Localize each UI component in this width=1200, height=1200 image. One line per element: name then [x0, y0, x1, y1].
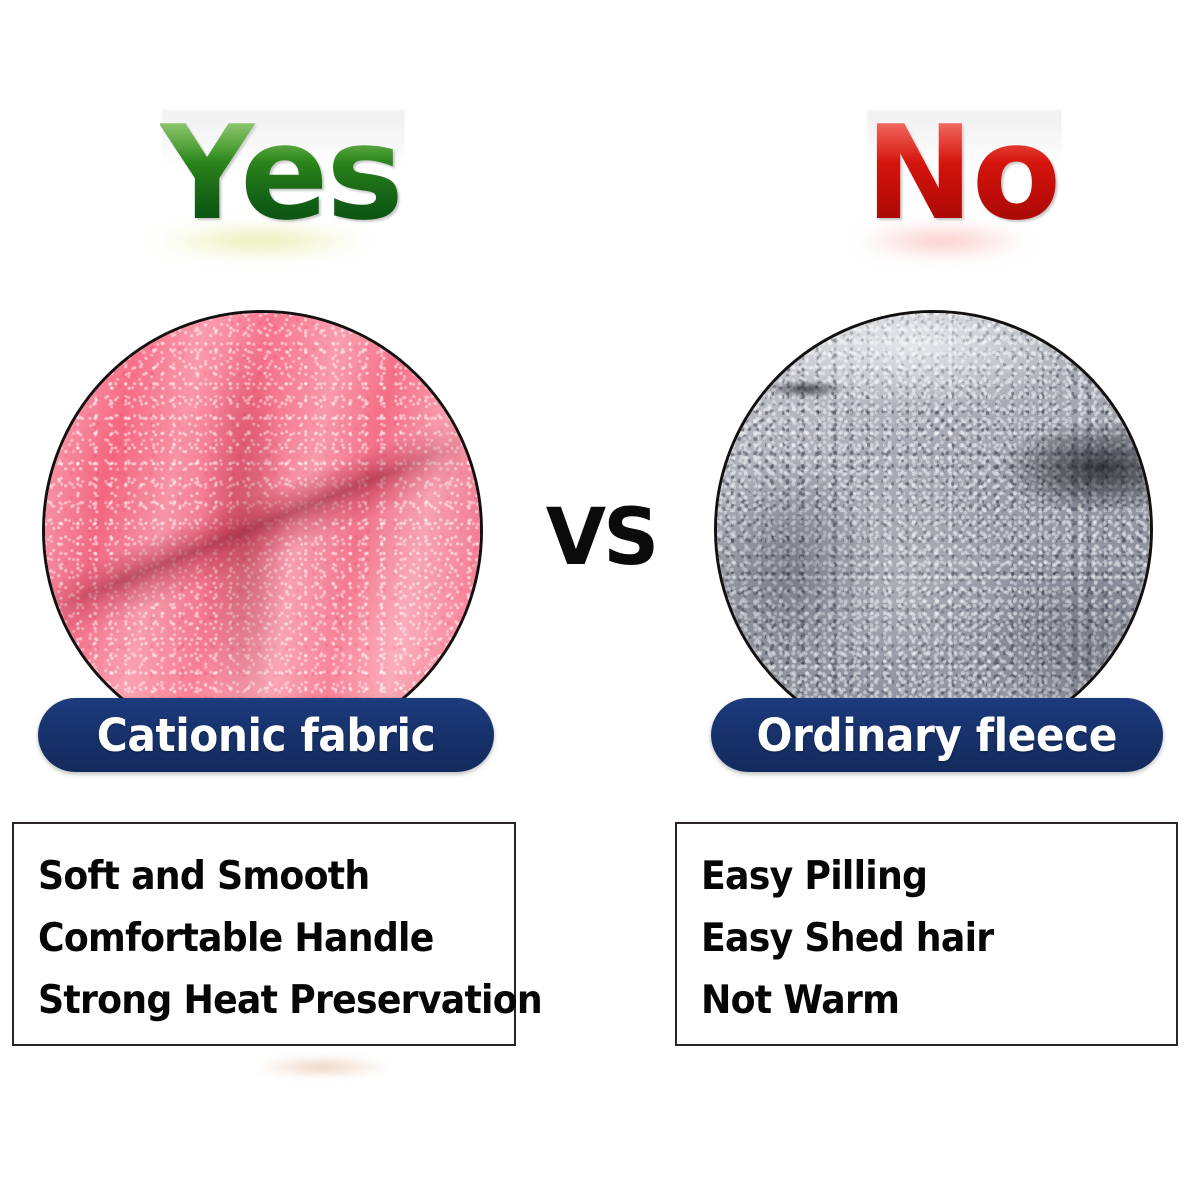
cationic-fabric-caption-text: Cationic fabric [97, 713, 435, 758]
ordinary-fleece-texture [714, 310, 1153, 749]
verdict-no-label: No [865, 108, 1059, 238]
feature-item: Comfortable Handle [38, 908, 481, 970]
cationic-fabric-fold-crease [42, 310, 483, 751]
bottom-smudge-artifact [258, 1055, 386, 1077]
versus-divider-label: VS [546, 498, 656, 578]
verdict-yes-label: Yes [160, 108, 402, 238]
feature-item: Not Warm [701, 970, 1143, 1032]
ordinary-fleece-feature-list: Easy Pilling Easy Shed hair Not Warm [701, 846, 1176, 1032]
ordinary-fleece-caption-text: Ordinary fleece [757, 713, 1117, 758]
cationic-fabric-swatch-circle [42, 310, 483, 751]
comparison-infographic: Yes Cationic fabric Soft and Smooth Comf… [0, 0, 1200, 1200]
feature-item: Strong Heat Preservation [38, 970, 481, 1032]
ordinary-fleece-feature-box: Easy Pilling Easy Shed hair Not Warm [675, 822, 1178, 1046]
cationic-fabric-feature-box: Soft and Smooth Comfortable Handle Stron… [12, 822, 516, 1046]
feature-item: Soft and Smooth [38, 846, 481, 908]
cationic-fabric-feature-list: Soft and Smooth Comfortable Handle Stron… [38, 846, 514, 1032]
ordinary-fleece-caption-badge: Ordinary fleece [711, 698, 1163, 772]
feature-item: Easy Pilling [701, 846, 1143, 908]
feature-item: Easy Shed hair [701, 908, 1143, 970]
ordinary-fleece-swatch-circle [714, 310, 1153, 749]
cationic-fabric-caption-badge: Cationic fabric [38, 698, 494, 772]
